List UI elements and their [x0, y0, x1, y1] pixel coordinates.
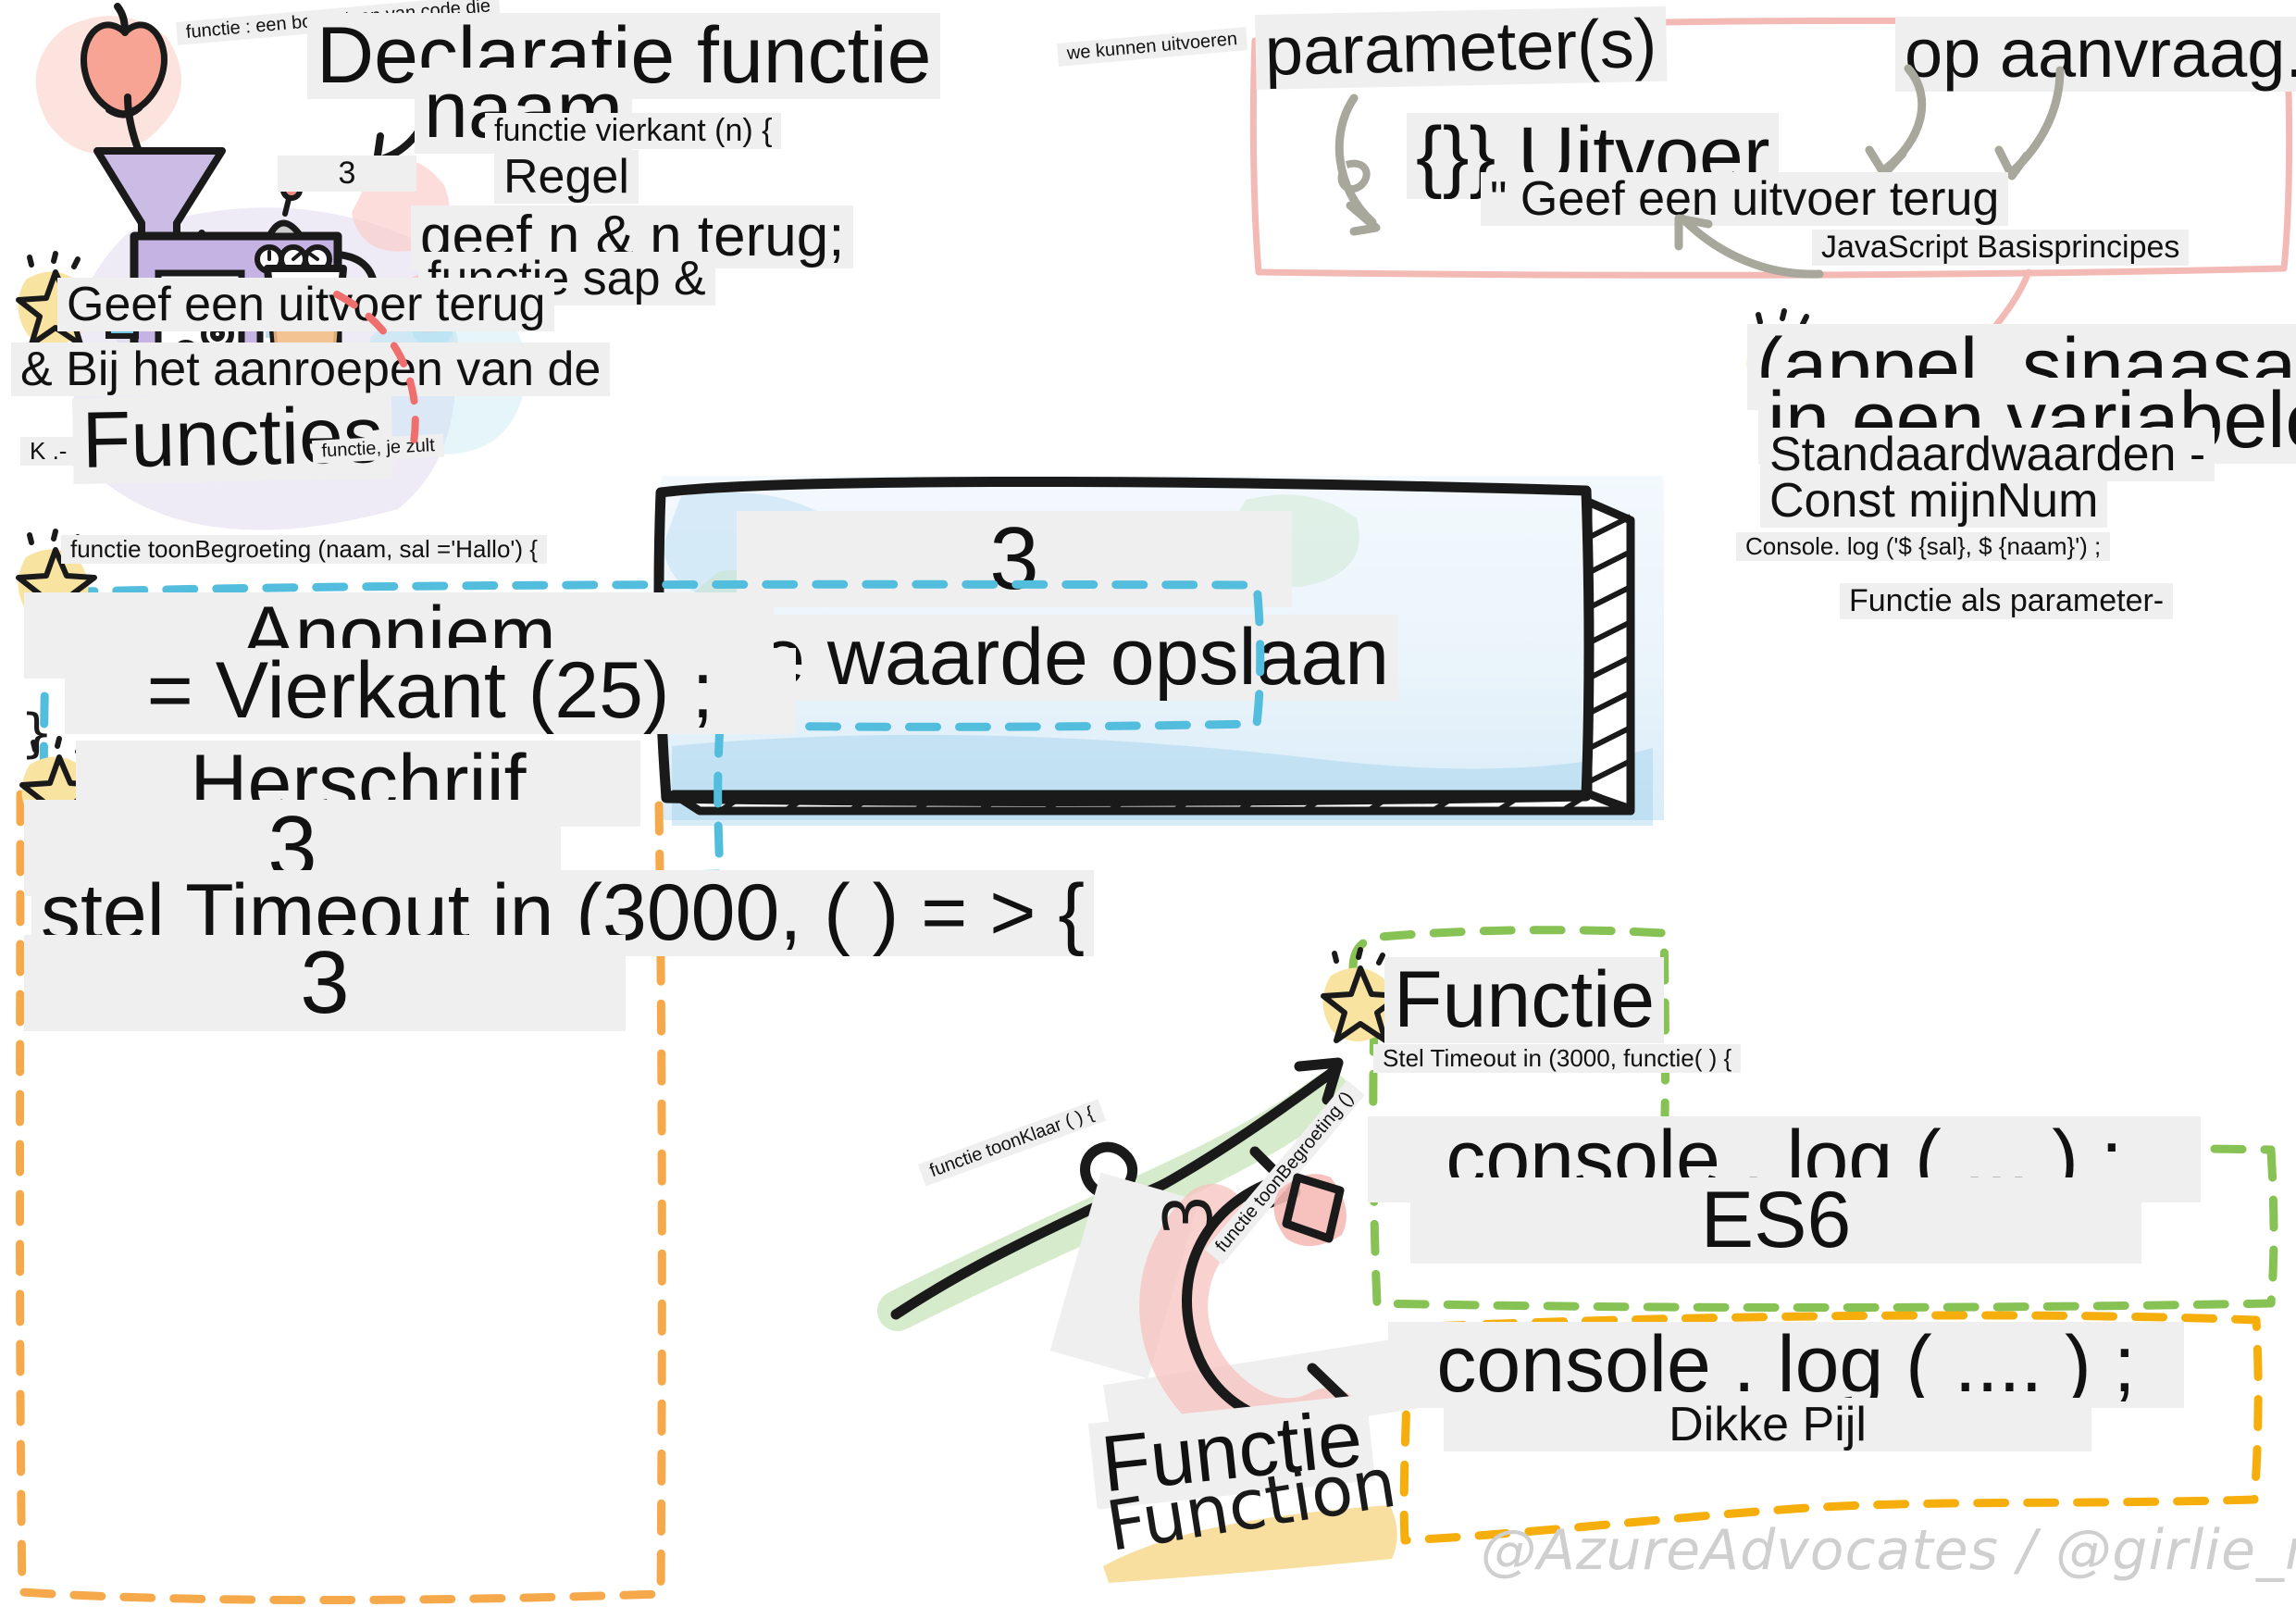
- rotated-number-three: 3: [1149, 1194, 1227, 1237]
- source-arrow-icon: [1657, 213, 1823, 296]
- functie-als-parameter-label: Functie als parameter-: [1840, 583, 2173, 619]
- k-mark-label: K .-: [20, 437, 76, 466]
- function-signature-code: functie vierkant (n) {: [485, 113, 781, 149]
- pink-dashed-curve: [331, 289, 452, 474]
- geef-uitvoer-terug-left: Geef een uitvoer terug: [57, 278, 554, 331]
- sketchnote-canvas: functie : een bouwsteen van code die: [0, 0, 2296, 1619]
- number-three-top: 3: [278, 156, 416, 192]
- dikke-pijl-label: Dikke Pijl: [1444, 1398, 2091, 1451]
- on-demand-label: op aanvraag.: [1895, 17, 2296, 92]
- es6-label: ES6: [1410, 1177, 2141, 1264]
- set-timeout-callback-code: Stel Timeout in (3000, functie( ) {: [1373, 1044, 1741, 1073]
- console-log-template-code: Console. log ('$ {sal}, $ {naam}') ;: [1736, 532, 2110, 561]
- credit-handle: @AzureAdvocates / @girlie_mac: [1481, 1518, 2296, 1583]
- parameters-label: parameter(s): [1255, 6, 1667, 90]
- bij-aanroepen-line: & Bij het aanroepen van de: [11, 342, 610, 396]
- functie-heading-right: Functie: [1384, 957, 1664, 1043]
- pink-square-icon: [1268, 1159, 1360, 1261]
- const-mijnnum-label: Const mijnNum: [1760, 474, 2107, 528]
- regel-label: Regel: [494, 150, 639, 204]
- source-label: JavaScript Basisprincipes: [1812, 230, 2189, 266]
- number-three-bottom: 3: [24, 935, 626, 1031]
- uitvoer-down-arrow-icon-b: [1980, 67, 2082, 187]
- vierkant-call-code: = Vierkant (25) ;: [65, 648, 796, 734]
- uitvoer-down-arrow-icon-a: [1842, 65, 1953, 185]
- console-log-dots4-code: console . log ( .... ) ;: [1388, 1322, 2184, 1408]
- toonbegroeting-signature-code: functie toonBegroeting (naam, sal ='Hall…: [61, 535, 547, 564]
